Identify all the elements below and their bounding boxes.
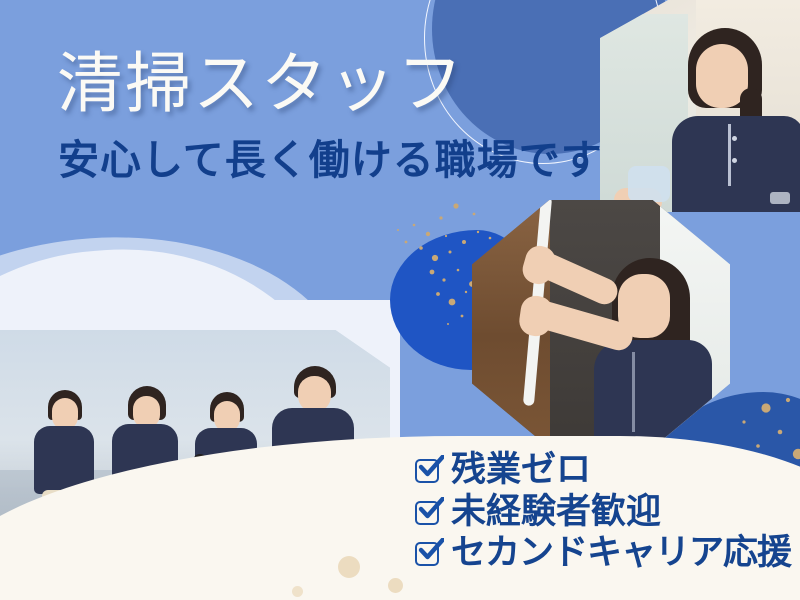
checkbox-checked-icon: [414, 498, 442, 526]
photo-staff-portrait: [600, 0, 800, 212]
list-item: 残業ゼロ: [414, 452, 791, 488]
benefit-label: 残業ゼロ: [451, 452, 591, 488]
benefits-checklist: 残業ゼロ 未経験者歓迎 セカンドキャリア応援: [414, 452, 791, 571]
list-item: セカンドキャリア応援: [414, 535, 791, 571]
checkbox-checked-icon: [414, 456, 442, 484]
photo-staff-cleaning-wall: [472, 200, 730, 448]
decor-tan-dot-1: [338, 556, 360, 578]
list-item: 未経験者歓迎: [414, 494, 791, 530]
decor-tan-dot-3: [292, 586, 303, 597]
job-ad-poster: 清掃スタッフ 安心して長く働ける職場です 残業ゼロ 未経験者歓迎: [0, 0, 800, 600]
checkbox-checked-icon: [414, 539, 442, 567]
page-title: 清掃スタッフ: [57, 52, 465, 118]
benefit-label: 未経験者歓迎: [451, 494, 661, 530]
benefit-label: セカンドキャリア応援: [451, 535, 791, 571]
page-subtitle: 安心して長く働ける職場です: [58, 140, 603, 181]
decor-tan-dot-2: [388, 578, 403, 593]
